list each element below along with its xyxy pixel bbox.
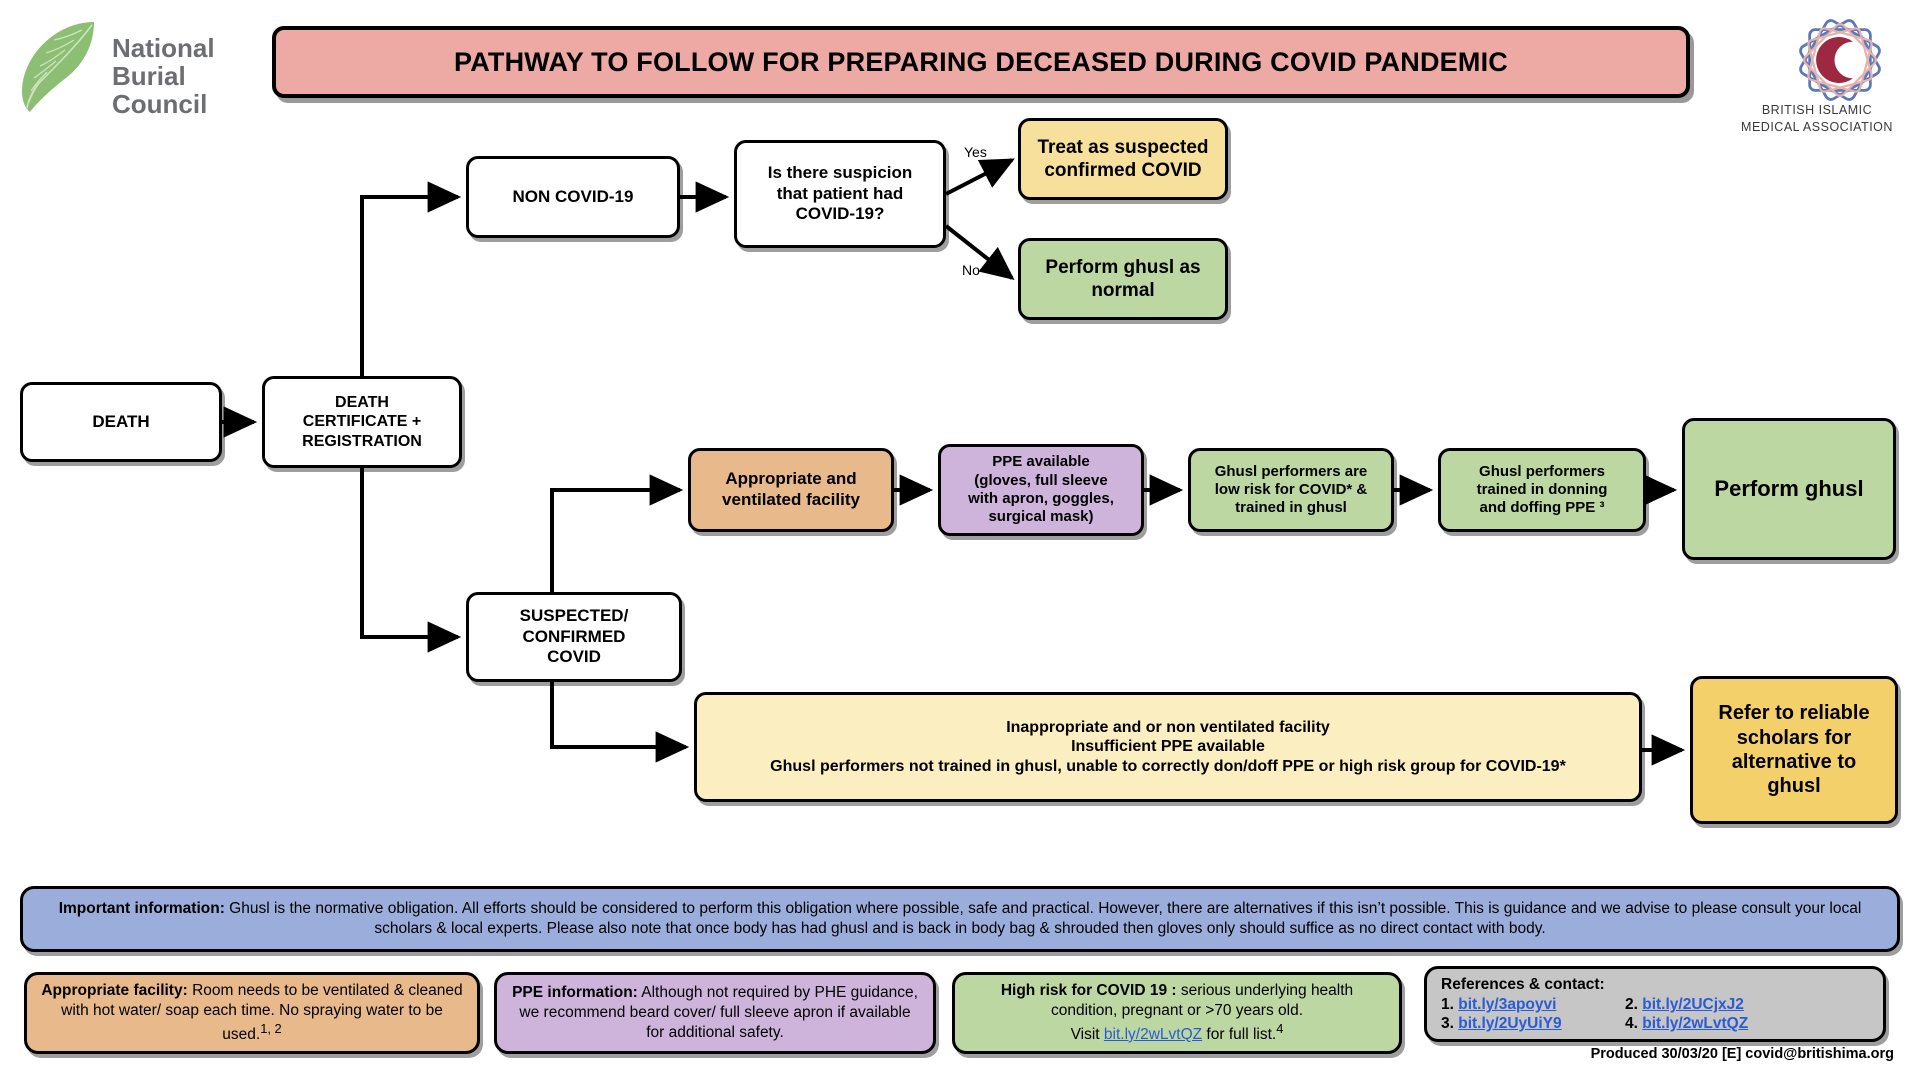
node-ppe-available[interactable]: PPE available (gloves, full sleeve with … [938, 444, 1144, 536]
node-death-certificate[interactable]: DEATH CERTIFICATE + REGISTRATION [262, 376, 462, 468]
bima-line-2: MEDICAL ASSOCIATION [1712, 119, 1920, 136]
panel-important-information: Important information: Ghusl is the norm… [20, 886, 1900, 952]
node-performers-trained-donning-doffing[interactable]: Ghusl performers trained in donning and … [1438, 448, 1646, 532]
node-performers-low-risk-label: Ghusl performers are low risk for COVID*… [1215, 463, 1368, 518]
reference-number: 4. [1625, 1015, 1638, 1032]
bima-caption: BRITISH ISLAMIC MEDICAL ASSOCIATION [1712, 102, 1920, 136]
node-inappropriate-conditions-label: Inappropriate and or non ventilated faci… [770, 718, 1566, 777]
panel-highrisk-visit-prefix: Visit [1071, 1026, 1104, 1043]
reference-link-3[interactable]: bit.ly/2UyUiY9 [1458, 1015, 1561, 1032]
panel-highrisk-link[interactable]: bit.ly/2wLvtQZ [1104, 1026, 1202, 1043]
panel-highrisk-visit-suffix: for full list. [1202, 1026, 1276, 1043]
reference-number: 1. [1441, 996, 1454, 1013]
edge-label-no: No [962, 262, 980, 278]
panel-ppe-label: PPE information: [512, 984, 638, 1001]
page-title-banner: PATHWAY TO FOLLOW FOR PREPARING DECEASED… [272, 26, 1690, 98]
nbc-line-1: National [112, 34, 215, 62]
edge-label-yes: Yes [964, 144, 987, 160]
node-refer-to-scholars-label: Refer to reliable scholars for alternati… [1718, 701, 1869, 799]
node-suspicion-question[interactable]: Is there suspicion that patient had COVI… [734, 140, 946, 248]
reference-link-4[interactable]: bit.ly/2wLvtQZ [1642, 1015, 1748, 1032]
node-death-certificate-label: DEATH CERTIFICATE + REGISTRATION [302, 393, 422, 452]
panel-appropriate-facility: Appropriate facility: Room needs to be v… [24, 972, 480, 1054]
node-inappropriate-conditions[interactable]: Inappropriate and or non ventilated faci… [694, 692, 1642, 802]
node-perform-ghusl-label: Perform ghusl [1714, 476, 1863, 503]
leaf-icon [16, 16, 106, 116]
produced-date-contact: Produced 30/03/20 [E] covid@britishima.o… [1424, 1046, 1908, 1062]
node-performers-low-risk[interactable]: Ghusl performers are low risk for COVID*… [1188, 448, 1394, 532]
node-perform-ghusl-as-normal-label: Perform ghusl as normal [1045, 256, 1200, 302]
node-treat-as-suspected-label: Treat as suspected confirmed COVID [1037, 136, 1208, 182]
nbc-line-3: Council [112, 90, 215, 118]
reference-link-2[interactable]: bit.ly/2UCjxJ2 [1642, 996, 1744, 1013]
panel-highrisk-superscript: 4 [1276, 1021, 1283, 1036]
reference-number: 2. [1625, 996, 1638, 1013]
panel-important-text: Ghusl is the normative obligation. All e… [225, 900, 1861, 937]
diagram-canvas: National Burial Council PATHWAY TO FOLLO… [0, 0, 1920, 1080]
node-suspected-confirmed-covid[interactable]: SUSPECTED/ CONFIRMED COVID [466, 592, 682, 682]
panel-important-label: Important information: [59, 900, 225, 917]
nbc-wordmark: National Burial Council [112, 34, 215, 118]
bima-line-1: BRITISH ISLAMIC [1712, 102, 1920, 119]
node-suspected-confirmed-covid-label: SUSPECTED/ CONFIRMED COVID [520, 606, 629, 668]
node-treat-as-suspected[interactable]: Treat as suspected confirmed COVID [1018, 118, 1228, 200]
references-row: 1. bit.ly/3apoyvi 2. bit.ly/2UCjxJ2 [1441, 996, 1869, 1015]
panel-facility-label: Appropriate facility: [41, 982, 187, 999]
panel-facility-superscript: 1, 2 [260, 1021, 282, 1036]
references-row: 3. bit.ly/2UyUiY9 4. bit.ly/2wLvtQZ [1441, 1015, 1869, 1034]
node-death-label: DEATH [92, 412, 149, 433]
reference-number: 3. [1441, 1015, 1454, 1032]
nbc-line-2: Burial [112, 62, 215, 90]
node-non-covid-label: NON COVID-19 [513, 187, 634, 208]
page-title: PATHWAY TO FOLLOW FOR PREPARING DECEASED… [454, 47, 1508, 78]
national-burial-council-logo: National Burial Council [16, 16, 264, 116]
references-title: References & contact: [1441, 975, 1869, 995]
node-perform-ghusl[interactable]: Perform ghusl [1682, 418, 1896, 560]
node-refer-to-scholars[interactable]: Refer to reliable scholars for alternati… [1690, 676, 1898, 824]
node-non-covid[interactable]: NON COVID-19 [466, 156, 680, 238]
reference-link-1[interactable]: bit.ly/3apoyvi [1458, 996, 1556, 1013]
bima-star-crescent-icon [1794, 14, 1886, 106]
panel-high-risk: High risk for COVID 19 : serious underly… [952, 972, 1402, 1054]
panel-highrisk-label: High risk for COVID 19 : [1001, 982, 1177, 999]
node-ppe-available-label: PPE available (gloves, full sleeve with … [968, 453, 1114, 526]
node-appropriate-ventilated-facility-label: Appropriate and ventilated facility [722, 469, 860, 510]
node-death[interactable]: DEATH [20, 382, 222, 462]
node-performers-trained-donning-doffing-label: Ghusl performers trained in donning and … [1477, 463, 1608, 518]
panel-references-contact: References & contact: 1. bit.ly/3apoyvi … [1424, 966, 1886, 1042]
node-perform-ghusl-as-normal[interactable]: Perform ghusl as normal [1018, 238, 1228, 320]
node-appropriate-ventilated-facility[interactable]: Appropriate and ventilated facility [688, 448, 894, 532]
node-suspicion-question-label: Is there suspicion that patient had COVI… [768, 163, 913, 225]
panel-ppe-information: PPE information: Although not required b… [494, 972, 936, 1054]
